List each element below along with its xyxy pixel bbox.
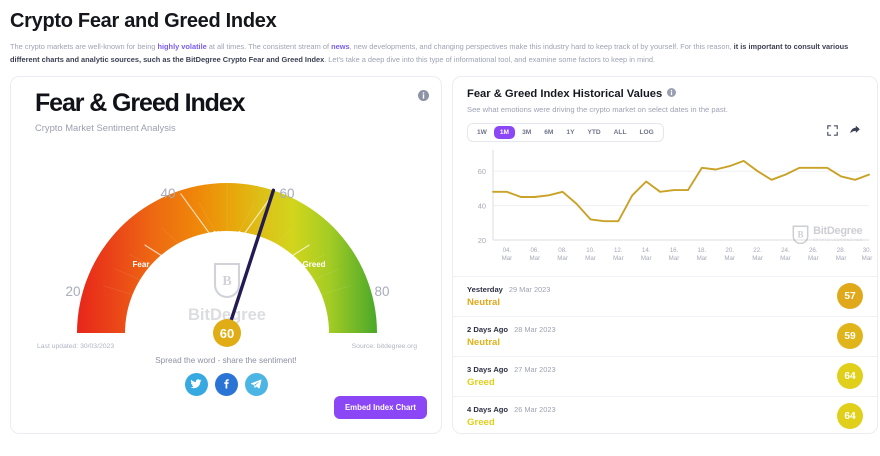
- gauge-zone-neutral: Neutral: [213, 230, 241, 239]
- svg-text:B: B: [222, 274, 231, 289]
- share-icon[interactable]: [849, 123, 861, 141]
- svg-text:40: 40: [478, 201, 486, 210]
- telegram-icon[interactable]: [245, 373, 268, 396]
- table-row[interactable]: Yesterday 29 Mar 2023 Neutral 57: [453, 276, 877, 316]
- chart-x-ticks: 04.Mar 06.Mar 08.Mar 10.Mar 12.Mar 14.Ma…: [502, 247, 873, 262]
- row-sentiment: Neutral: [467, 297, 550, 308]
- svg-text:Mar: Mar: [585, 255, 596, 262]
- svg-text:10.: 10.: [586, 247, 595, 254]
- row-date: 27 Mar 2023: [514, 365, 556, 374]
- gauge-value-text: 60: [220, 326, 234, 341]
- gauge-footer: Last updated: 30/03/2023 Source: bitdegr…: [11, 343, 443, 350]
- chart-toolbar: [827, 123, 863, 141]
- gauge-tick-40: 40: [160, 186, 175, 201]
- intro-paragraph: The crypto markets are well-known for be…: [6, 33, 874, 67]
- svg-text:16.: 16.: [670, 247, 679, 254]
- svg-text:12.: 12.: [614, 247, 623, 254]
- range-1w[interactable]: 1W: [471, 126, 493, 139]
- svg-text:Mar: Mar: [836, 255, 847, 262]
- row-date: 28 Mar 2023: [514, 325, 556, 334]
- svg-text:Mar: Mar: [697, 255, 708, 262]
- row-sentiment: Neutral: [467, 337, 556, 348]
- row-relative-label: 4 Days Ago: [467, 405, 508, 414]
- range-all[interactable]: ALL: [608, 126, 633, 139]
- svg-text:Mar: Mar: [557, 255, 568, 262]
- svg-text:06.: 06.: [530, 247, 539, 254]
- svg-text:20.: 20.: [725, 247, 734, 254]
- row-value-badge: 57: [837, 283, 863, 309]
- svg-text:22.: 22.: [753, 247, 762, 254]
- svg-text:04.: 04.: [503, 247, 512, 254]
- svg-text:24.: 24.: [781, 247, 790, 254]
- row-value-badge: 59: [837, 323, 863, 349]
- fear-greed-gauge-card: Fear & Greed Index Crypto Market Sentime…: [10, 76, 442, 434]
- table-row[interactable]: 3 Days Ago 27 Mar 2023 Greed 64: [453, 356, 877, 396]
- gauge-source: Source: bitdegree.org: [352, 343, 417, 350]
- svg-text:Mar: Mar: [613, 255, 624, 262]
- share-prompt: Spread the word - share the sentiment!: [11, 356, 441, 365]
- svg-text:08.: 08.: [558, 247, 567, 254]
- range-selector: 1W 1M 3M 6M 1Y YTD ALL LOG: [467, 123, 664, 142]
- svg-text:Mar: Mar: [669, 255, 680, 262]
- svg-text:Mar: Mar: [808, 255, 819, 262]
- info-icon[interactable]: [667, 88, 676, 100]
- historical-title: Fear & Greed Index Historical Values: [467, 88, 662, 100]
- svg-text:Mar: Mar: [780, 255, 791, 262]
- svg-text:Mar: Mar: [724, 255, 735, 262]
- range-ytd[interactable]: YTD: [581, 126, 606, 139]
- gauge-zone-fear: Fear: [133, 260, 150, 269]
- row-relative-label: Yesterday: [467, 285, 503, 294]
- table-row[interactable]: 2 Days Ago 28 Mar 2023 Neutral 59: [453, 316, 877, 356]
- row-sentiment: Greed: [467, 377, 556, 388]
- svg-text:28.: 28.: [837, 247, 846, 254]
- range-6m[interactable]: 6M: [538, 126, 559, 139]
- link-news[interactable]: news: [331, 42, 349, 51]
- svg-text:Mar: Mar: [641, 255, 652, 262]
- intro-text-4: . Let's take a deep dive into this type …: [324, 55, 655, 64]
- historical-header: Fear & Greed Index Historical Values See…: [453, 77, 877, 114]
- row-relative-label: 3 Days Ago: [467, 365, 508, 374]
- row-date: 26 Mar 2023: [514, 405, 556, 414]
- svg-text:14.: 14.: [642, 247, 651, 254]
- svg-text:Mar: Mar: [529, 255, 540, 262]
- gauge-subtitle: Crypto Market Sentiment Analysis: [35, 122, 441, 133]
- chart-controls: 1W 1M 3M 6M 1Y YTD ALL LOG: [453, 123, 877, 142]
- gauge-zone-greed: Greed: [302, 260, 325, 269]
- page-root: Crypto Fear and Greed Index The crypto m…: [0, 0, 880, 456]
- social-share-buttons: [11, 373, 441, 396]
- svg-text:B: B: [798, 230, 804, 240]
- range-log[interactable]: LOG: [634, 126, 660, 139]
- row-value-badge: 64: [837, 363, 863, 389]
- gauge-last-updated: Last updated: 30/03/2023: [37, 343, 114, 350]
- fullscreen-icon[interactable]: [827, 123, 838, 141]
- historical-title-row: Fear & Greed Index Historical Values: [467, 88, 863, 100]
- watermark-tagline: CRYPTO LEARNING HUB: [813, 239, 863, 242]
- gauge-title: Fear & Greed Index: [35, 89, 441, 118]
- row-date: 29 Mar 2023: [509, 285, 551, 294]
- historical-subtitle: See what emotions were driving the crypt…: [467, 105, 863, 114]
- intro-text-1: The crypto markets are well-known for be…: [10, 42, 157, 51]
- facebook-icon[interactable]: [215, 373, 238, 396]
- svg-text:Mar: Mar: [862, 255, 873, 262]
- info-icon[interactable]: [418, 88, 429, 99]
- chart-y-ticks: 60 40 20: [478, 167, 486, 245]
- gauge-tick-20: 20: [65, 284, 80, 299]
- embed-index-chart-button[interactable]: Embed Index Chart: [334, 396, 427, 419]
- svg-text:18.: 18.: [698, 247, 707, 254]
- range-3m[interactable]: 3M: [516, 126, 537, 139]
- intro-text-2: at all times. The consistent stream of: [207, 42, 331, 51]
- svg-text:26.: 26.: [809, 247, 818, 254]
- link-highly-volatile[interactable]: highly volatile: [157, 42, 206, 51]
- svg-text:60: 60: [478, 167, 486, 176]
- historical-values-card: Fear & Greed Index Historical Values See…: [452, 76, 878, 434]
- twitter-icon[interactable]: [185, 373, 208, 396]
- svg-text:30.: 30.: [863, 247, 872, 254]
- gauge-tick-80: 80: [374, 284, 389, 299]
- gauge-visual: 20 40 60 80 Extreme Fear Fear Neutral Gr…: [11, 135, 443, 350]
- range-1y[interactable]: 1Y: [560, 126, 580, 139]
- bitdegree-logo: B BitDegree: [188, 264, 266, 324]
- chart-series-line: [493, 161, 869, 221]
- cards-row: Fear & Greed Index Crypto Market Sentime…: [6, 67, 874, 434]
- gauge-tick-60: 60: [279, 186, 294, 201]
- chart-watermark: B BitDegree CRYPTO LEARNING HUB: [792, 225, 863, 244]
- svg-text:Mar: Mar: [752, 255, 763, 262]
- row-sentiment: Greed: [467, 417, 556, 428]
- row-relative-label: 2 Days Ago: [467, 325, 508, 334]
- page-title: Crypto Fear and Greed Index: [6, 0, 874, 33]
- row-value-badge: 64: [837, 403, 863, 429]
- range-1m[interactable]: 1M: [494, 126, 515, 139]
- historical-line-chart[interactable]: 60 40 20 04.Mar 06.Mar 08.Mar 10.Mar 12.…: [453, 148, 879, 276]
- gauge-header: Fear & Greed Index Crypto Market Sentime…: [11, 77, 441, 133]
- table-row[interactable]: 4 Days Ago 26 Mar 2023 Greed 64: [453, 396, 877, 436]
- watermark-name: BitDegree: [813, 226, 863, 237]
- svg-text:Mar: Mar: [502, 255, 513, 262]
- historical-rows: Yesterday 29 Mar 2023 Neutral 57 2 Days …: [453, 276, 877, 436]
- svg-text:20: 20: [478, 236, 486, 245]
- bitdegree-shield-icon: B: [792, 225, 809, 244]
- intro-text-3: , new developments, and changing perspec…: [350, 42, 734, 51]
